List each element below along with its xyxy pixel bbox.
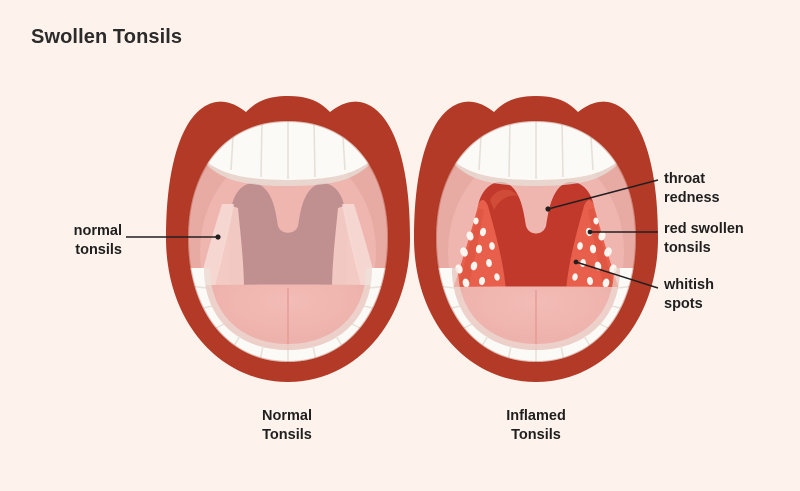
annotation-red-swollen-tonsils: red swollen tonsils (664, 220, 744, 259)
caption-normal-line2: Tonsils (207, 426, 367, 445)
caption-normal-line1: Normal (207, 407, 367, 426)
illustration-canvas: Swollen Tonsils (0, 0, 800, 491)
caption-normal-tonsils: Normal Tonsils (207, 407, 367, 445)
annotation-red-swollen-tonsils-line2: tonsils (664, 239, 744, 258)
annotation-normal-tonsils-line2: tonsils (0, 241, 122, 260)
caption-inflamed-line1: Inflamed (456, 407, 616, 426)
annotation-whitish-spots-line2: spots (664, 295, 714, 314)
annotation-whitish-spots-line1: whitish (664, 276, 714, 295)
annotation-normal-tonsils-line1: normal (0, 222, 122, 241)
annotation-normal-tonsils: normal tonsils (0, 222, 122, 261)
inflamed-mouth-graphic (414, 96, 658, 382)
caption-inflamed-tonsils: Inflamed Tonsils (456, 407, 616, 445)
caption-inflamed-line2: Tonsils (456, 426, 616, 445)
annotation-throat-redness-line2: redness (664, 189, 720, 208)
annotation-throat-redness: throat redness (664, 170, 720, 209)
annotation-throat-redness-line1: throat (664, 170, 720, 189)
normal-mouth-graphic (166, 96, 410, 382)
annotation-red-swollen-tonsils-line1: red swollen (664, 220, 744, 239)
annotation-whitish-spots: whitish spots (664, 276, 714, 315)
